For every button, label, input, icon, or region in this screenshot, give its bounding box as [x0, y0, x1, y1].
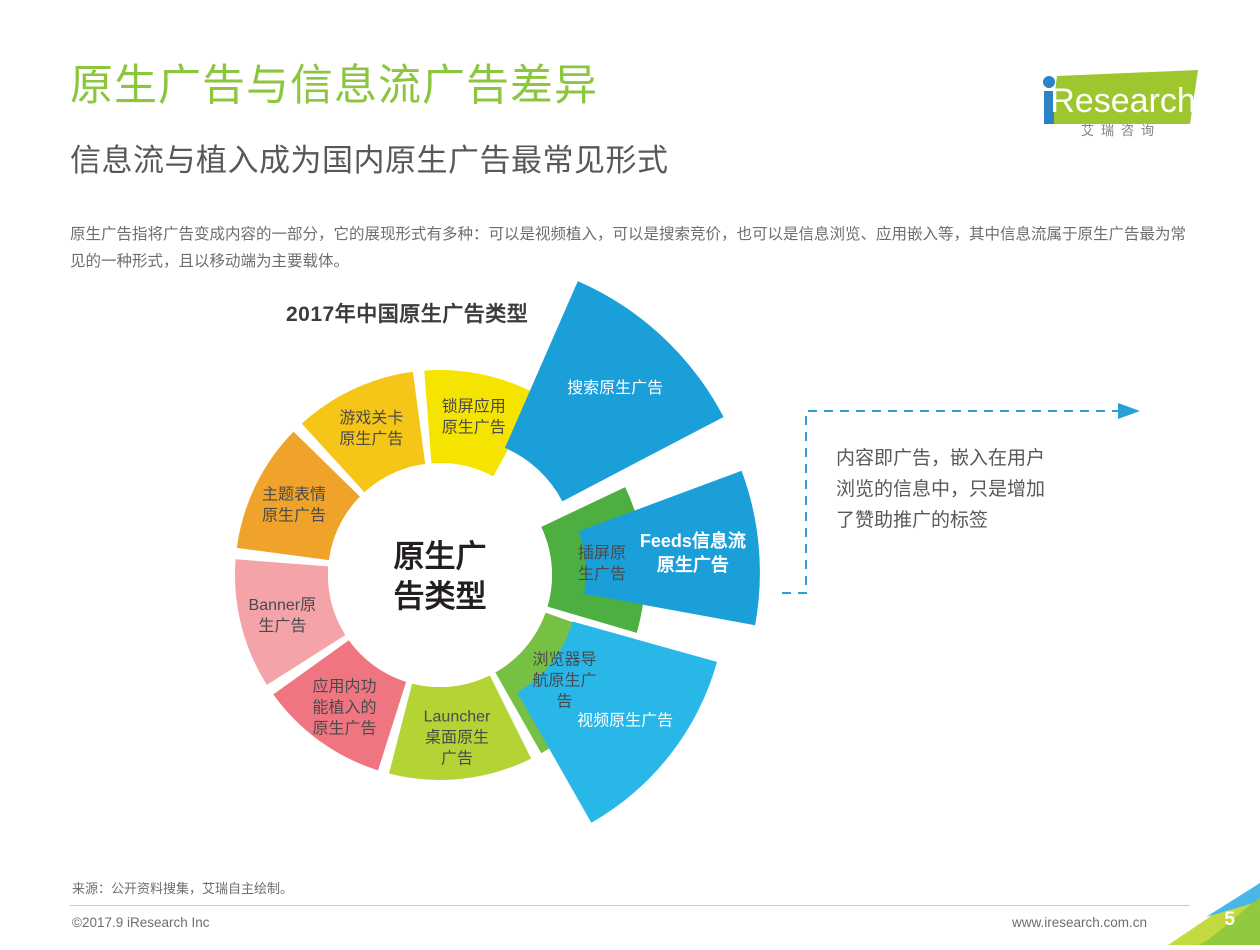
corner-decoration — [1168, 883, 1260, 945]
callout-line-3: 了赞助推广的标签 — [836, 506, 1166, 537]
chart-title: 2017年中国原生广告类型 — [286, 298, 528, 328]
page-title: 原生广告与信息流广告差异 — [70, 62, 598, 110]
footer-divider — [70, 905, 1190, 906]
callout-text: 内容即广告，嵌入在用户 浏览的信息中，只是增加 了赞助推广的标签 — [836, 444, 1166, 536]
logo-chinese-text: 艾瑞咨询 — [1035, 120, 1200, 139]
callout-line-2: 浏览的信息中，只是增加 — [836, 475, 1166, 506]
donut-slice-label: 应用内功能植入的原生广告 — [312, 676, 376, 737]
exploded-slice-label: 搜索原生广告 — [567, 379, 663, 397]
page-number: 5 — [1224, 909, 1235, 931]
native-ad-type-donut-chart: 插屏原生广告浏览器导航原生广告Launcher桌面原生广告应用内功能植入的原生广… — [150, 330, 870, 890]
intro-paragraph: 原生广告指将广告变成内容的一部分，它的展现形式有多种：可以是视频植入，可以是搜索… — [70, 222, 1190, 275]
callout-line-1: 内容即广告，嵌入在用户 — [836, 444, 1166, 475]
donut-center-line1: 原生广 — [394, 539, 487, 574]
source-note: 来源：公开资料搜集，艾瑞自主绘制。 — [72, 878, 293, 897]
callout-arrow-icon — [1118, 403, 1140, 419]
donut-center-line2: 告类型 — [394, 579, 487, 614]
svg-text:Research: Research — [1050, 82, 1196, 120]
copyright-text: ©2017.9 iResearch Inc — [72, 915, 210, 930]
page-subtitle: 信息流与植入成为国内原生广告最常见形式 — [70, 143, 669, 179]
website-url[interactable]: www.iresearch.com.cn — [1012, 915, 1147, 930]
slide-page: 原生广告与信息流广告差异 信息流与植入成为国内原生广告最常见形式 原生广告指将广… — [0, 0, 1260, 945]
exploded-slice-label: 视频原生广告 — [577, 712, 673, 730]
